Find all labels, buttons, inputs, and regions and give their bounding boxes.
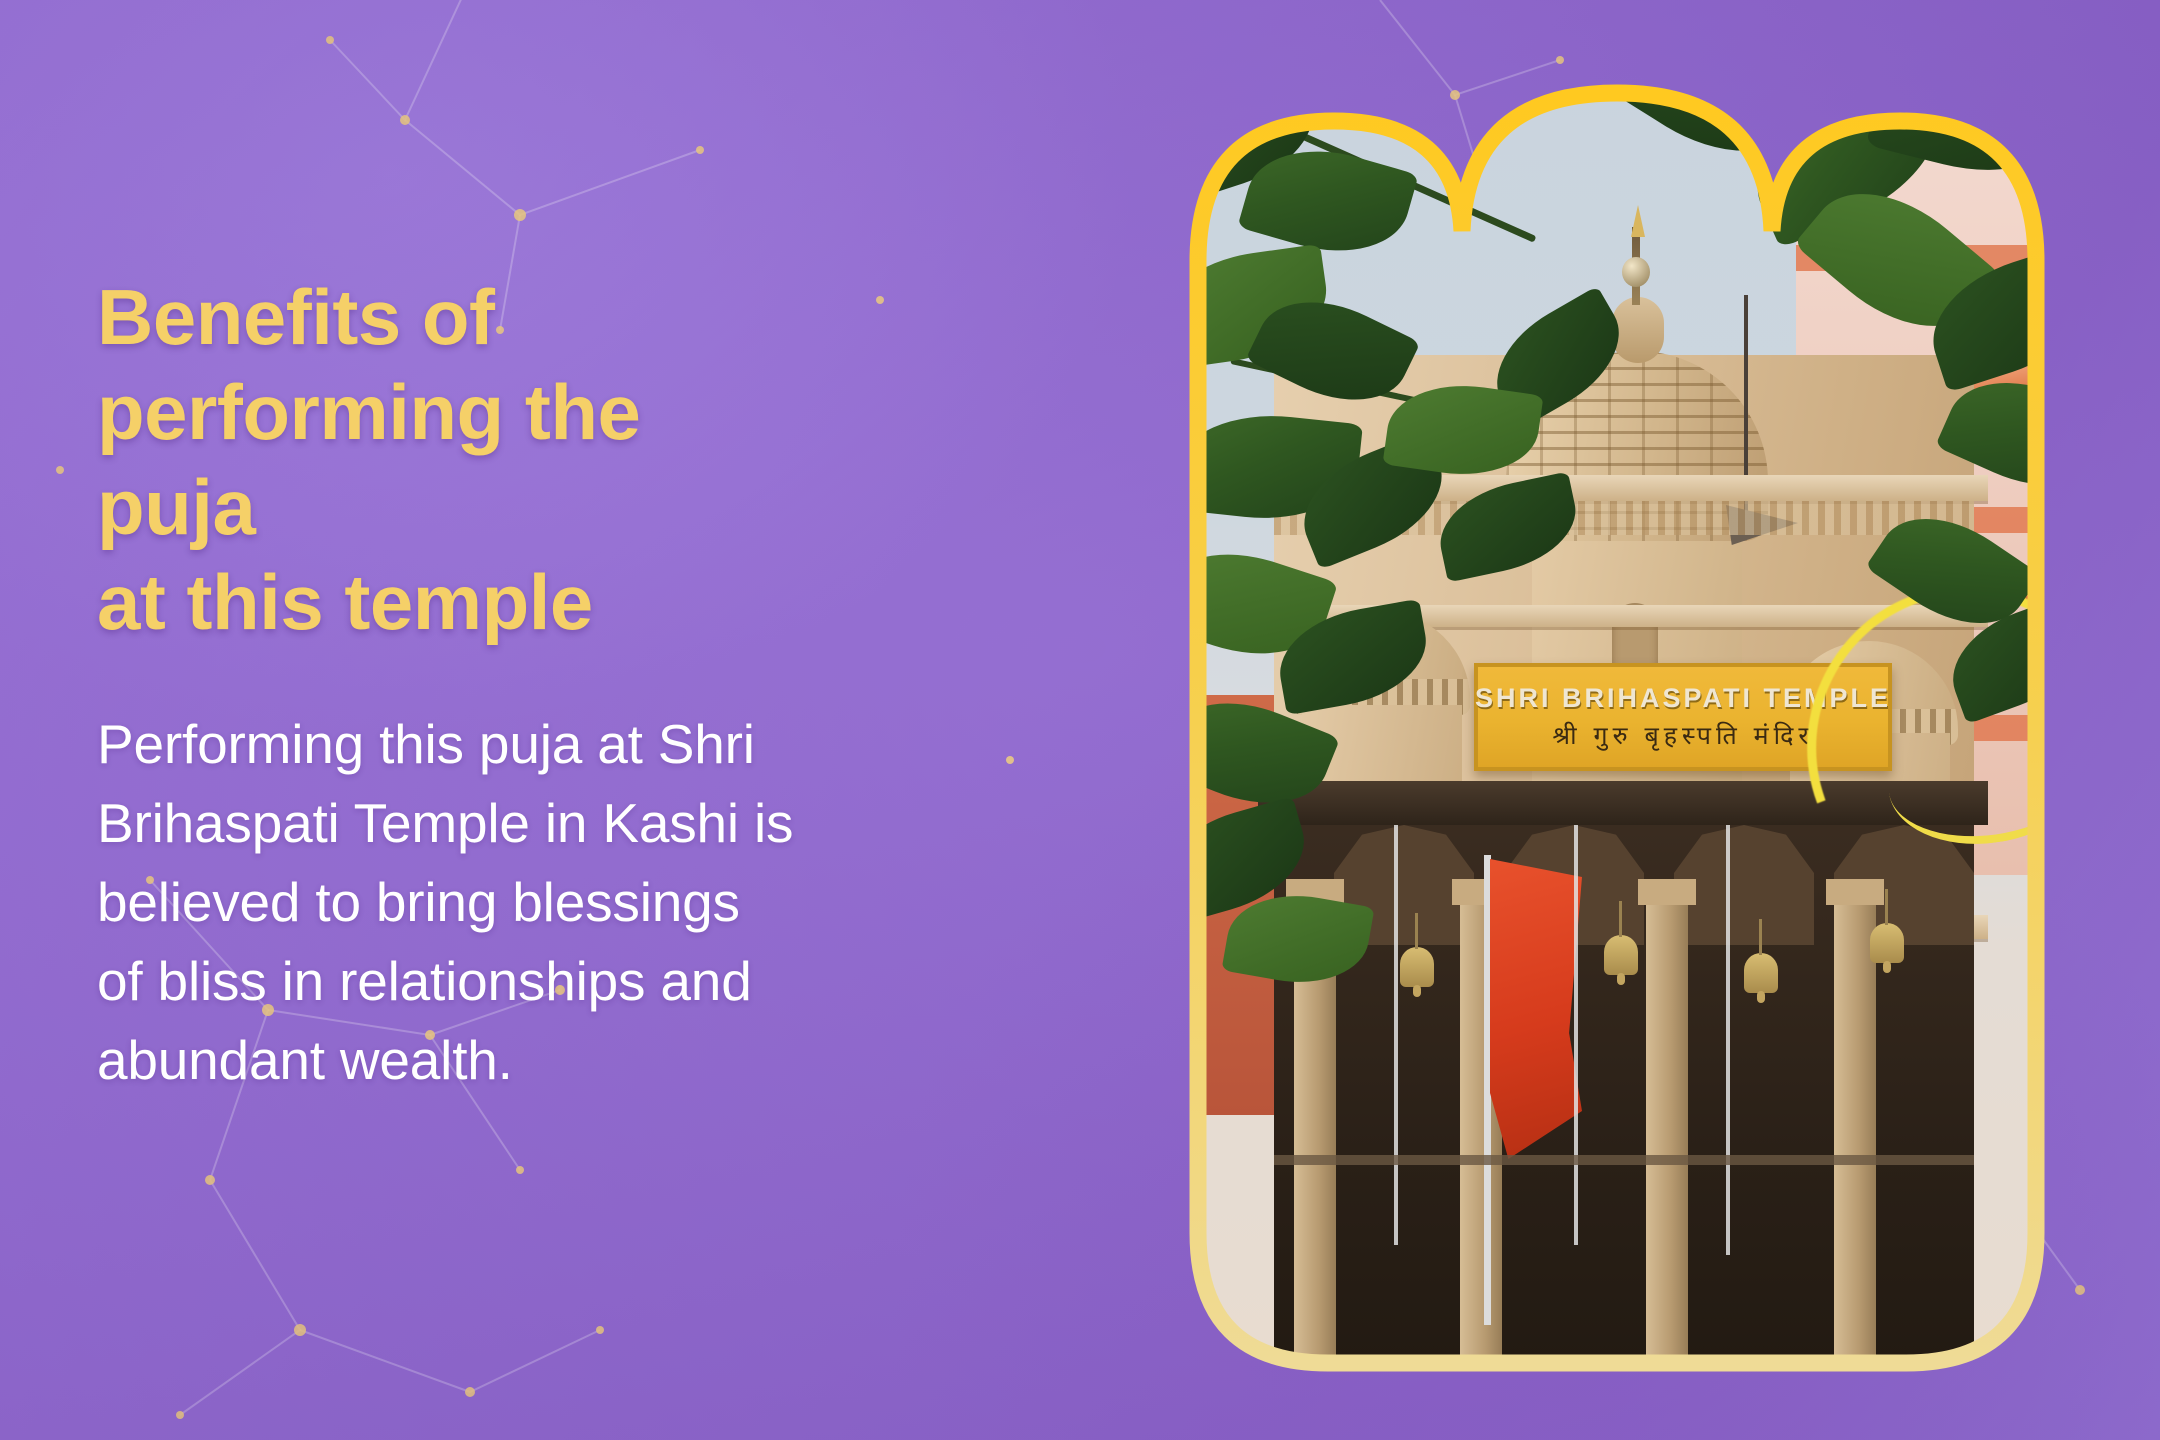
card-frame: SHRI BRIHASPATI TEMPLE श्री गुरु बृहस्पत…: [1188, 55, 2046, 1373]
flag-pole: [1484, 855, 1491, 1325]
temple-bell: [1870, 923, 1904, 963]
temple-image-card[interactable]: SHRI BRIHASPATI TEMPLE श्री गुरु बृहस्पत…: [1188, 55, 2046, 1373]
page-title: Benefits of performing the puja at this …: [97, 270, 777, 650]
slide-canvas: Benefits of performing the puja at this …: [0, 0, 2160, 1440]
signboard-devanagari: श्री गुरु बृहस्पति मंदिर: [1552, 718, 1813, 752]
veranda-pillar: [1646, 895, 1688, 1365]
red-flag: [1490, 859, 1582, 1159]
veranda-pillar: [1834, 895, 1876, 1365]
body-paragraph: Performing this puja at Shri Brihaspati …: [97, 705, 797, 1100]
veranda: [1274, 825, 1974, 1373]
text-column: Benefits of performing the puja at this …: [97, 0, 797, 1440]
amalaka: [1612, 297, 1664, 363]
temple-photo: SHRI BRIHASPATI TEMPLE श्री गुरु बृहस्पत…: [1188, 55, 2046, 1373]
temple-bell: [1604, 935, 1638, 975]
temple-bell: [1400, 947, 1434, 987]
finial-tip: [1631, 205, 1645, 237]
kalash-orb: [1622, 257, 1650, 287]
temple-bell: [1744, 953, 1778, 993]
